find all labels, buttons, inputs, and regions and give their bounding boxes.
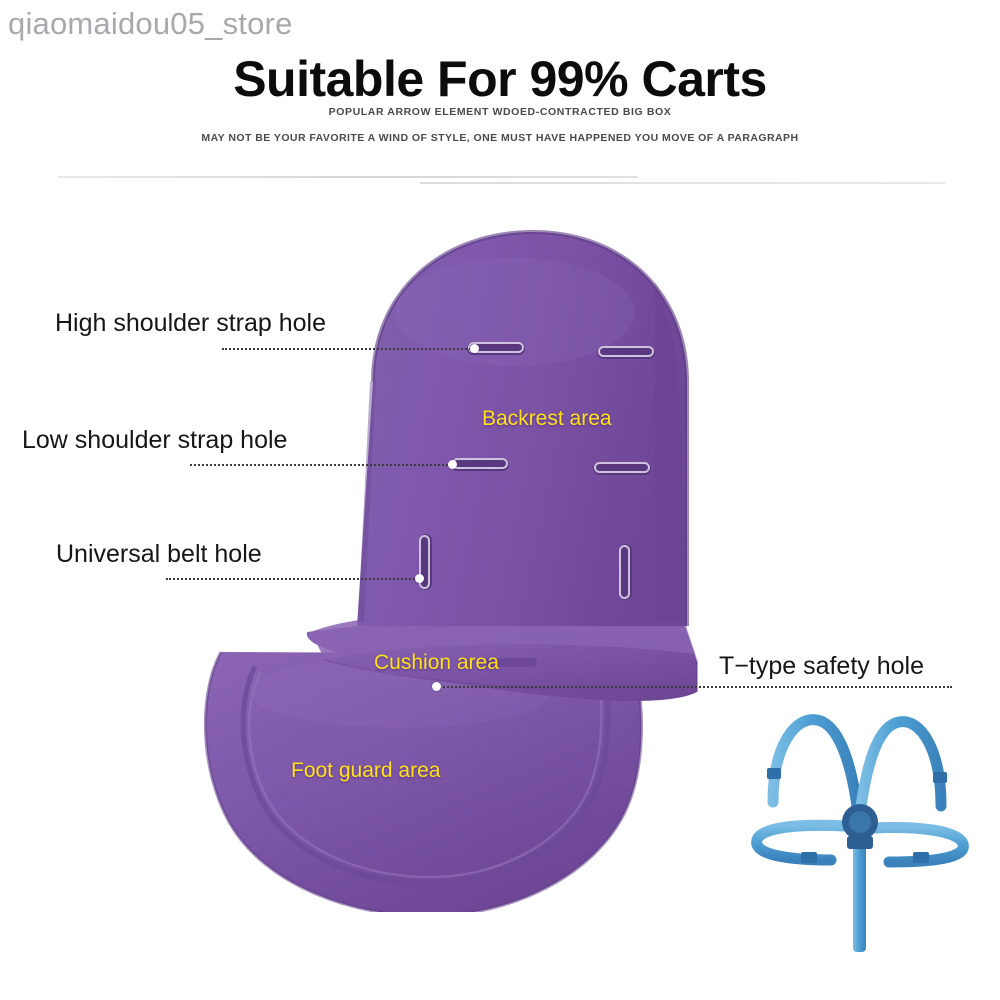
- divider-rule-lower: [420, 182, 945, 184]
- leader-endpoint-dot-universal-belt: [415, 574, 424, 583]
- leader-line-low-shoulder-strap-hole: [190, 464, 452, 466]
- callout-t-type-safety-hole: T−type safety hole: [719, 652, 924, 681]
- divider-rule-upper: [58, 176, 638, 178]
- callout-universal-belt-hole: Universal belt hole: [56, 540, 262, 569]
- leader-endpoint-dot-high-shoulder: [470, 344, 479, 353]
- leader-line-high-shoulder-strap-hole: [222, 348, 474, 350]
- area-label-cushion: Cushion area: [374, 651, 499, 675]
- callout-low-shoulder-strap-hole: Low shoulder strap hole: [22, 426, 287, 455]
- subtitle-line-1: POPULAR ARROW ELEMENT WDOED-CONTRACTED B…: [0, 106, 1000, 118]
- leader-endpoint-dot-low-shoulder: [448, 460, 457, 469]
- harness-shoulder-straps: [773, 720, 941, 806]
- leader-endpoint-dot-t-type-safety: [432, 682, 441, 691]
- low-shoulder-strap-hole-right: [593, 462, 651, 475]
- harness-center-buckle: [842, 804, 878, 849]
- high-shoulder-strap-hole-right: [597, 346, 655, 359]
- infographic-canvas: qiaomaidou05_store Suitable For 99% Cart…: [0, 0, 1000, 1000]
- page-title: Suitable For 99% Carts: [0, 50, 1000, 108]
- safety-harness-image: [735, 694, 985, 984]
- subtitle-line-2: MAY NOT BE YOUR FAVORITE A WIND OF STYLE…: [0, 132, 1000, 144]
- universal-belt-hole-right: [619, 544, 632, 600]
- area-label-backrest: Backrest area: [482, 407, 612, 431]
- leader-line-universal-belt-hole: [166, 578, 419, 580]
- callout-high-shoulder-strap-hole: High shoulder strap hole: [55, 309, 326, 338]
- leader-line-t-type-safety-hole: [436, 686, 952, 688]
- harness-crotch-strap: [853, 836, 866, 952]
- store-watermark: qiaomaidou05_store: [8, 6, 293, 42]
- low-shoulder-strap-hole-left: [451, 458, 509, 471]
- area-label-foot-guard: Foot guard area: [291, 759, 440, 783]
